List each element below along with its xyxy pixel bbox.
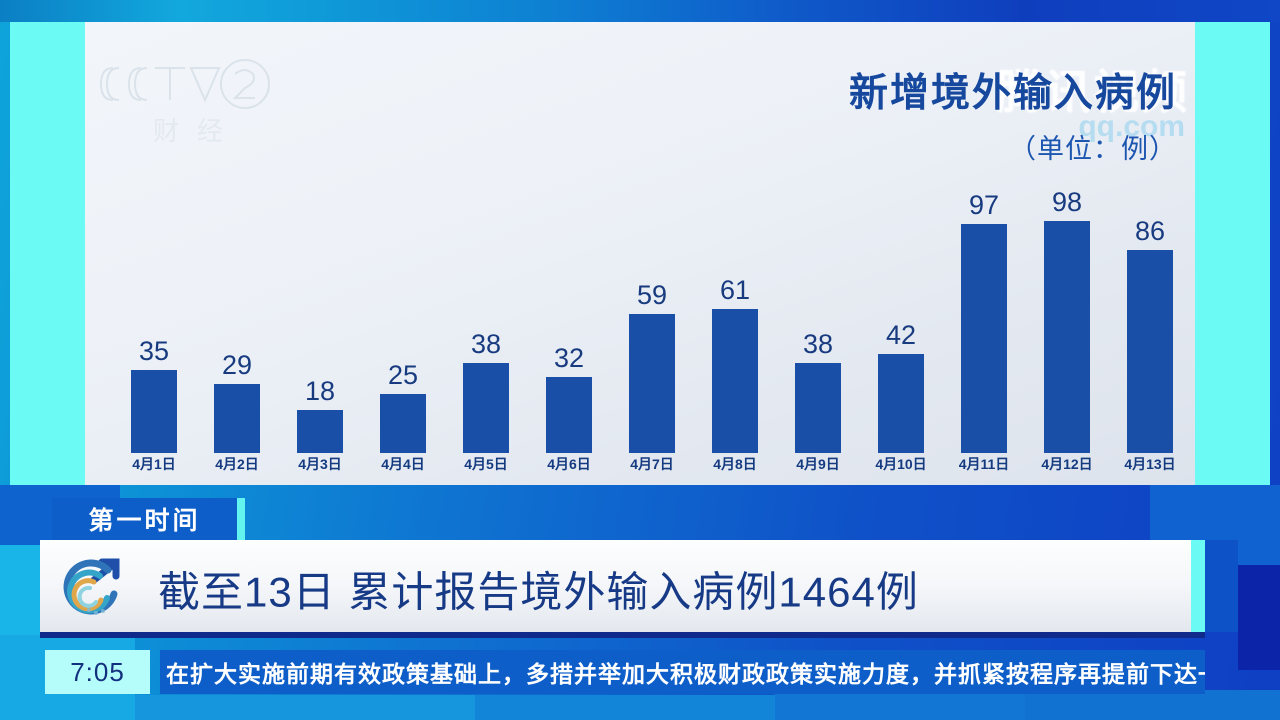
news-ticker: 在扩大实施前期有效政策基础上，多措并举加大积极财政政策实施力度，并抓紧按程序再提…: [160, 650, 1205, 694]
bg-block-8: [1025, 690, 1280, 720]
program-logo-icon: [58, 550, 134, 626]
chart-panel: 财 经 腾讯视频 qq.com 新增境外输入病例 （单位：例） 354月1日29…: [85, 22, 1195, 485]
bar-category-label: 4月12日: [1028, 454, 1106, 474]
bar-value-label: 86: [1111, 216, 1189, 247]
bar-category-label: 4月8日: [696, 454, 774, 474]
bar-value-label: 32: [530, 343, 608, 374]
bar-category-label: 4月13日: [1111, 454, 1189, 474]
bar-category-label: 4月7日: [613, 454, 691, 474]
clock-box: 7:05: [45, 650, 150, 694]
bg-block-7: [775, 690, 1025, 720]
program-tag: 第一时间: [52, 498, 237, 540]
bar: [629, 314, 675, 453]
bar: [546, 377, 592, 453]
bg-block-6: [475, 695, 775, 720]
bg-block-11: [1205, 540, 1238, 632]
bar-value-label: 97: [945, 190, 1023, 221]
bg-block-10: [1238, 565, 1280, 670]
bar-category-label: 4月11日: [945, 454, 1023, 474]
bar-category-label: 4月1日: [115, 454, 193, 474]
clock-time: 7:05: [70, 657, 125, 688]
bar: [961, 224, 1007, 453]
bar-value-label: 25: [364, 360, 442, 391]
headline-text: 截至13日 累计报告境外输入病例1464例: [158, 558, 919, 619]
bar: [131, 370, 177, 453]
bar: [795, 363, 841, 453]
program-tag-label: 第一时间: [88, 501, 200, 537]
bar-value-label: 29: [198, 350, 276, 381]
bar: [297, 410, 343, 453]
bar-category-label: 4月10日: [862, 454, 940, 474]
broadcast-screenshot: 财 经 腾讯视频 qq.com 新增境外输入病例 （单位：例） 354月1日29…: [0, 0, 1280, 720]
bar: [878, 354, 924, 453]
cyan-stripe-right: [1195, 22, 1270, 485]
bar-value-label: 61: [696, 275, 774, 306]
bar: [214, 384, 260, 453]
bar-value-label: 18: [281, 376, 359, 407]
chart-plot-area: 354月1日294月2日184月3日254月4日384月5日324月6日594月…: [85, 22, 1195, 485]
bar: [463, 363, 509, 453]
bar-category-label: 4月4日: [364, 454, 442, 474]
bar-value-label: 38: [447, 329, 525, 360]
bar-category-label: 4月2日: [198, 454, 276, 474]
bar-value-label: 98: [1028, 187, 1106, 218]
top-color-band: [0, 0, 1280, 22]
headline-underline: [40, 632, 1205, 638]
bar: [1127, 250, 1173, 453]
headline-bar: 截至13日 累计报告境外输入病例1464例: [40, 540, 1205, 637]
bar-category-label: 4月6日: [530, 454, 608, 474]
bar-value-label: 38: [779, 329, 857, 360]
bar-value-label: 59: [613, 280, 691, 311]
program-tag-edge-accent: [237, 498, 245, 540]
cyan-stripe-left: [10, 22, 85, 485]
bg-block-5: [135, 695, 475, 720]
bar-category-label: 4月3日: [281, 454, 359, 474]
bar-category-label: 4月5日: [447, 454, 525, 474]
bar-value-label: 42: [862, 320, 940, 351]
headline-edge-accent: [1191, 540, 1205, 632]
bar: [712, 309, 758, 453]
bar: [1044, 221, 1090, 453]
ticker-text: 在扩大实施前期有效政策基础上，多措并举加大积极财政政策实施力度，并抓紧按程序再提…: [160, 655, 1205, 689]
bar: [380, 394, 426, 453]
bar-value-label: 35: [115, 336, 193, 367]
bar-category-label: 4月9日: [779, 454, 857, 474]
